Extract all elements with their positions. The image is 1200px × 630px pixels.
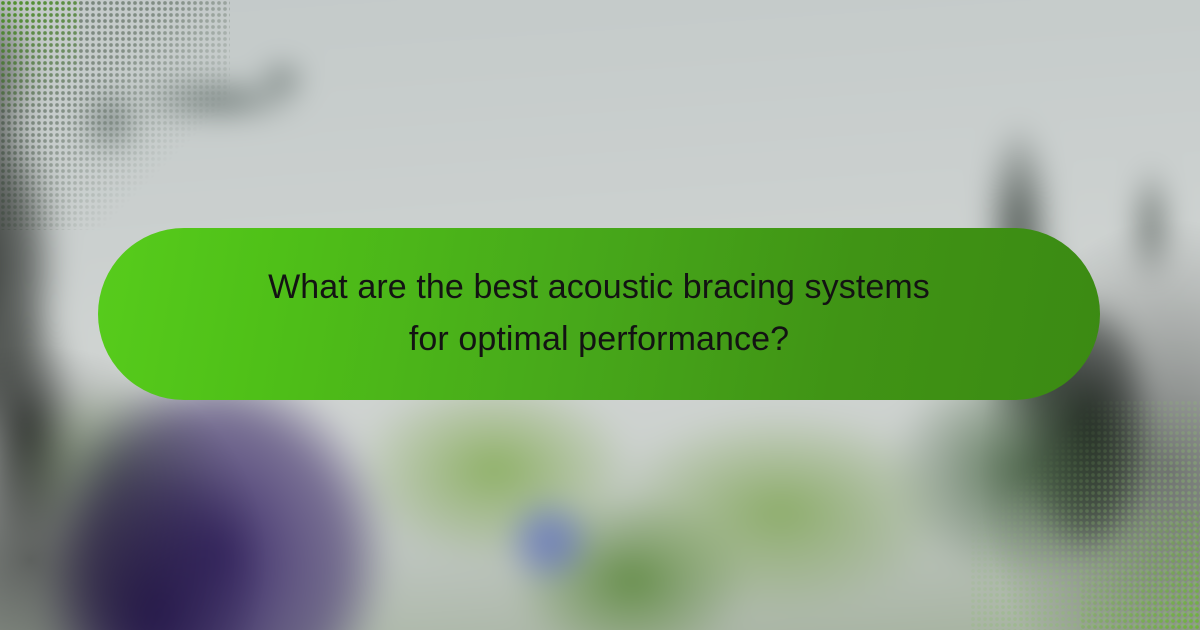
- question-headline: What are the best acoustic bracing syste…: [268, 262, 930, 365]
- banner-card: What are the best acoustic bracing syste…: [0, 0, 1200, 630]
- question-pill: What are the best acoustic bracing syste…: [98, 228, 1100, 400]
